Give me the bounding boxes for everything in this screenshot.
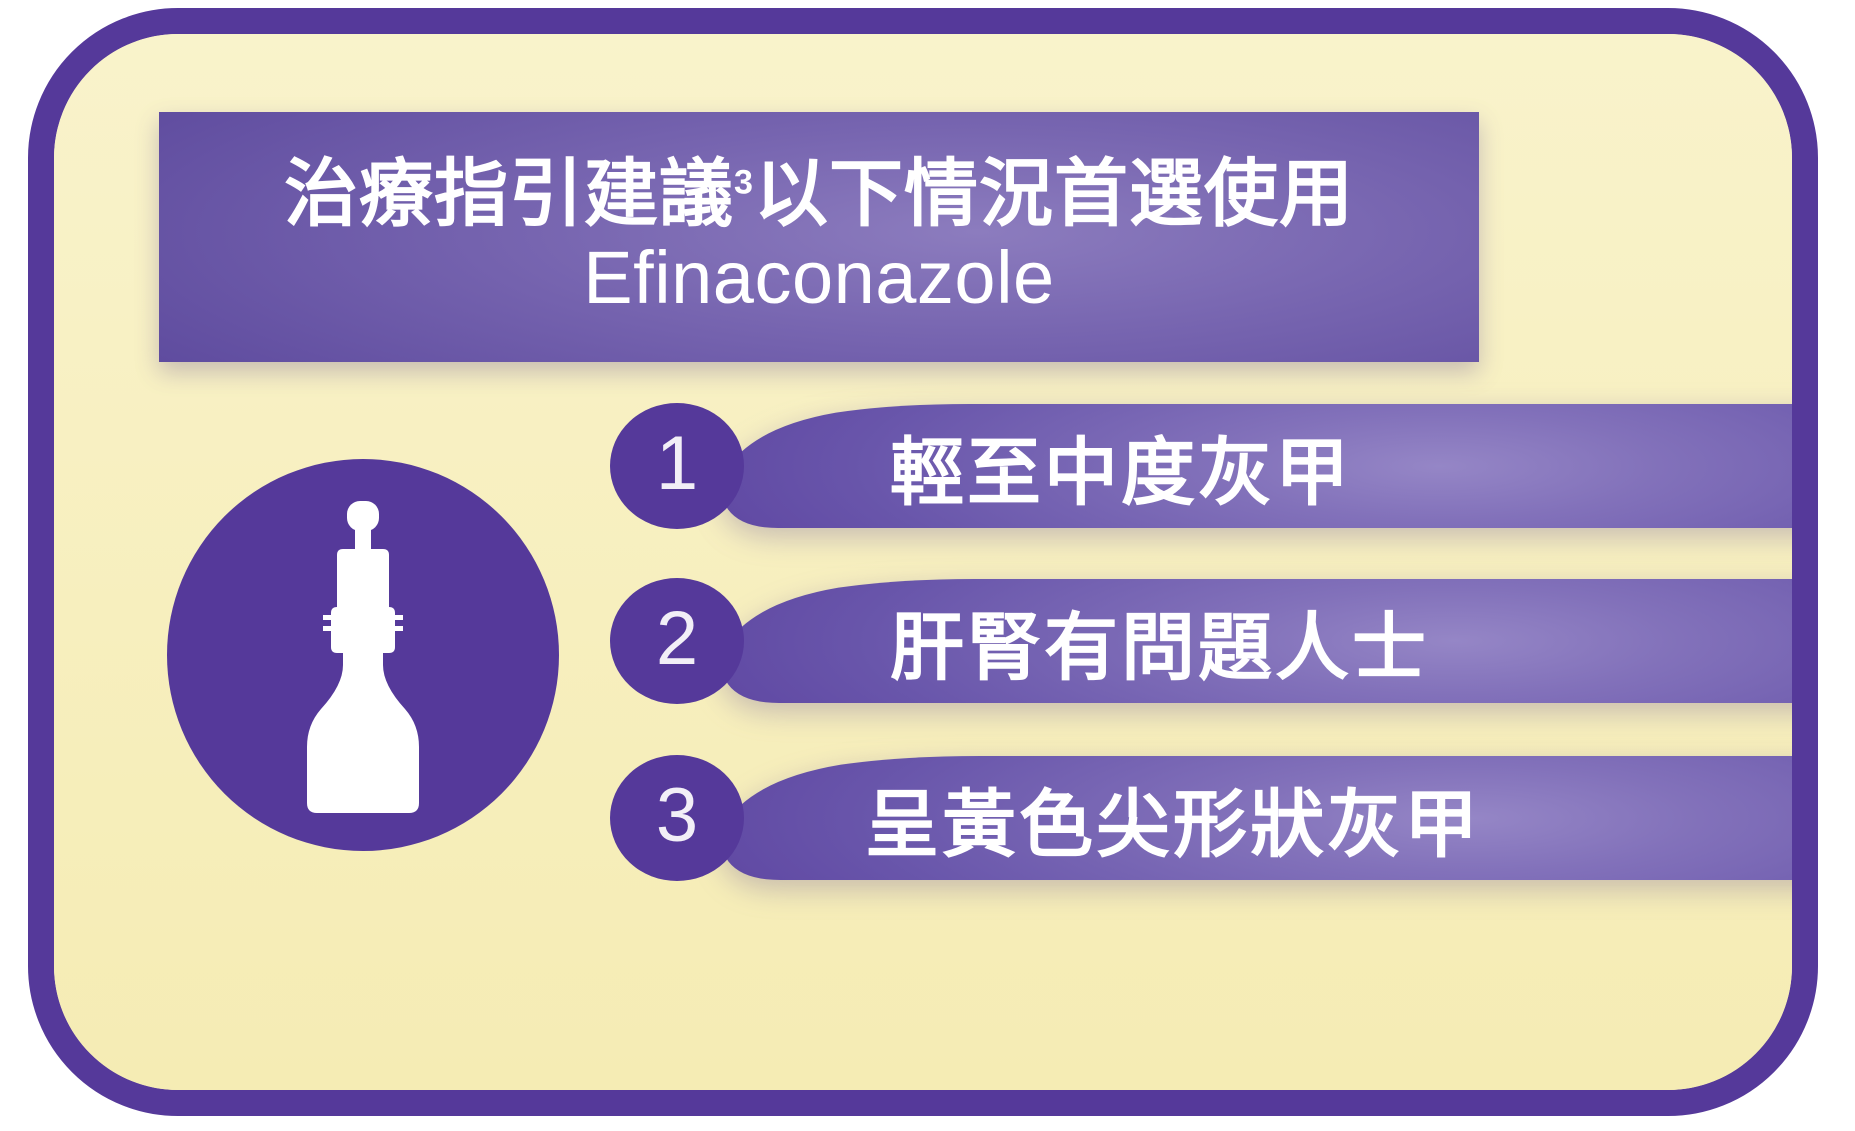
item-number-2: 2 xyxy=(656,601,698,677)
item-number-1: 1 xyxy=(656,426,698,502)
item-label-3: 呈黃色尖形狀灰甲 xyxy=(865,756,1481,880)
header-title-superscript: 3 xyxy=(734,163,754,201)
dropper-bottle-icon xyxy=(167,459,559,851)
header-drug-name: Efinaconazole xyxy=(583,235,1054,320)
item-label-1: 輕至中度灰甲 xyxy=(890,404,1352,528)
item-number-badge-3: 3 xyxy=(610,755,744,881)
poster-canvas: 治療指引建議3以下情況首選使用 Efinaconazole xyxy=(0,0,1855,1131)
item-label-2: 肝腎有問題人士 xyxy=(890,579,1429,703)
item-number-3: 3 xyxy=(656,778,698,854)
header-banner: 治療指引建議3以下情況首選使用 Efinaconazole xyxy=(159,112,1479,362)
item-number-badge-1: 1 xyxy=(610,403,744,529)
header-title-line1: 治療指引建議3以下情況首選使用 xyxy=(284,154,1354,234)
header-title-suffix: 以下情況首選使用 xyxy=(754,152,1354,235)
bottle-glyph xyxy=(263,495,463,815)
info-card: 治療指引建議3以下情況首選使用 Efinaconazole xyxy=(28,8,1818,1116)
header-title-prefix: 治療指引建議 xyxy=(284,152,734,235)
item-number-badge-2: 2 xyxy=(610,578,744,704)
